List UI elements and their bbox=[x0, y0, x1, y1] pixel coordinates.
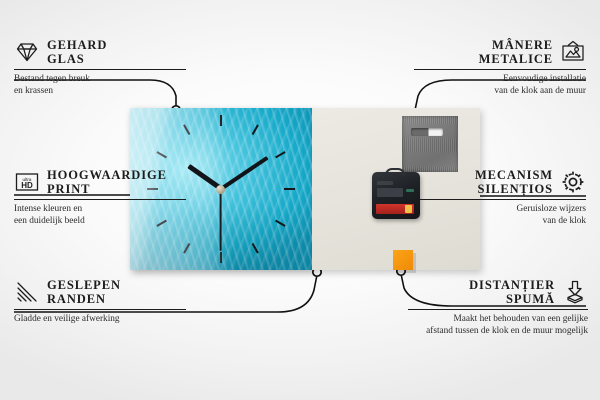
feature-title: GEHARD GLAS bbox=[47, 38, 107, 66]
clock-tick bbox=[275, 220, 286, 227]
diamond-icon bbox=[14, 39, 40, 65]
mechanism-detail bbox=[406, 189, 414, 192]
foam-spacer bbox=[393, 250, 413, 270]
feature-title: GESLEPEN RANDEN bbox=[47, 278, 121, 306]
feature-description: Eenvoudige installatie van de klok aan d… bbox=[414, 74, 586, 97]
svg-text:HD: HD bbox=[21, 181, 33, 190]
mechanism-detail bbox=[377, 188, 403, 197]
feature-mecanism-silentios[interactable]: MECANISM SILENȚIOS Geruisloze wijzers va… bbox=[414, 168, 586, 227]
clock-tick bbox=[183, 243, 190, 254]
clock-tick bbox=[275, 151, 286, 158]
mechanism-detail bbox=[377, 181, 393, 185]
feature-header: MÂNERE METALICE bbox=[414, 38, 586, 69]
quartz-mechanism bbox=[372, 172, 420, 219]
feature-description: Intense kleuren en een duidelijk beeld bbox=[14, 204, 186, 227]
feature-header: GESLEPEN RANDEN bbox=[14, 278, 186, 309]
feature-divider bbox=[414, 199, 586, 200]
feature-header: DISTANȚIER SPUMĂ bbox=[408, 278, 588, 309]
feature-divider bbox=[14, 199, 186, 200]
feature-divider bbox=[408, 309, 588, 310]
clock-tick bbox=[252, 124, 259, 135]
clock-minute-hand bbox=[220, 156, 269, 191]
feature-header: MECANISM SILENȚIOS bbox=[414, 168, 586, 199]
feature-title: MECANISM SILENȚIOS bbox=[475, 168, 553, 196]
feature-divider bbox=[14, 69, 186, 70]
feature-geslepen-randen[interactable]: GESLEPEN RANDEN Gladde en veilige afwerk… bbox=[14, 278, 186, 326]
feature-hoogwaardige-print[interactable]: ultra HD HOOGWAARDIGE PRINT Intense kleu… bbox=[14, 168, 186, 227]
feature-gehard-glas[interactable]: GEHARD GLAS Bestand tegen breuk en krass… bbox=[14, 38, 186, 97]
feature-title: MÂNERE METALICE bbox=[479, 38, 553, 66]
mechanism-hanger-loop bbox=[385, 168, 405, 176]
battery bbox=[376, 204, 414, 214]
beveled-edge-icon bbox=[14, 279, 40, 305]
ultra-hd-icon: ultra HD bbox=[14, 169, 40, 195]
hanger-keyhole-slot bbox=[411, 128, 443, 136]
feature-divider bbox=[414, 69, 586, 70]
feature-description: Gladde en veilige afwerking bbox=[14, 314, 186, 326]
feature-title: HOOGWAARDIGE PRINT bbox=[47, 168, 167, 196]
spacer-down-arrow-icon bbox=[562, 279, 588, 305]
feature-distantier-spuma[interactable]: DISTANȚIER SPUMĂ Maakt het behouden van … bbox=[408, 278, 588, 337]
clock-tick bbox=[156, 151, 167, 158]
clock-tick bbox=[220, 252, 222, 263]
picture-frame-hanging-icon bbox=[560, 39, 586, 65]
feature-description: Bestand tegen breuk en krassen bbox=[14, 74, 186, 97]
clock-tick bbox=[220, 115, 222, 126]
clock-tick bbox=[252, 243, 259, 254]
feature-divider bbox=[14, 309, 186, 310]
feature-description: Maakt het behouden van een gelijke afsta… bbox=[408, 314, 588, 337]
clock-tick bbox=[183, 124, 190, 135]
clock-second-hand bbox=[220, 189, 222, 251]
clock-center-cap bbox=[216, 185, 225, 194]
gear-icon bbox=[560, 169, 586, 195]
feature-title: DISTANȚIER SPUMĂ bbox=[469, 278, 555, 306]
feature-manere-metalice[interactable]: MÂNERE METALICE Eenvoudige installatie v… bbox=[414, 38, 586, 97]
infographic-stage: GEHARD GLAS Bestand tegen breuk en krass… bbox=[0, 0, 600, 400]
feature-header: GEHARD GLAS bbox=[14, 38, 186, 69]
clock-tick bbox=[284, 188, 295, 190]
feature-description: Geruisloze wijzers van de klok bbox=[414, 204, 586, 227]
feature-header: ultra HD HOOGWAARDIGE PRINT bbox=[14, 168, 186, 199]
metal-hanger-plate bbox=[402, 116, 458, 172]
